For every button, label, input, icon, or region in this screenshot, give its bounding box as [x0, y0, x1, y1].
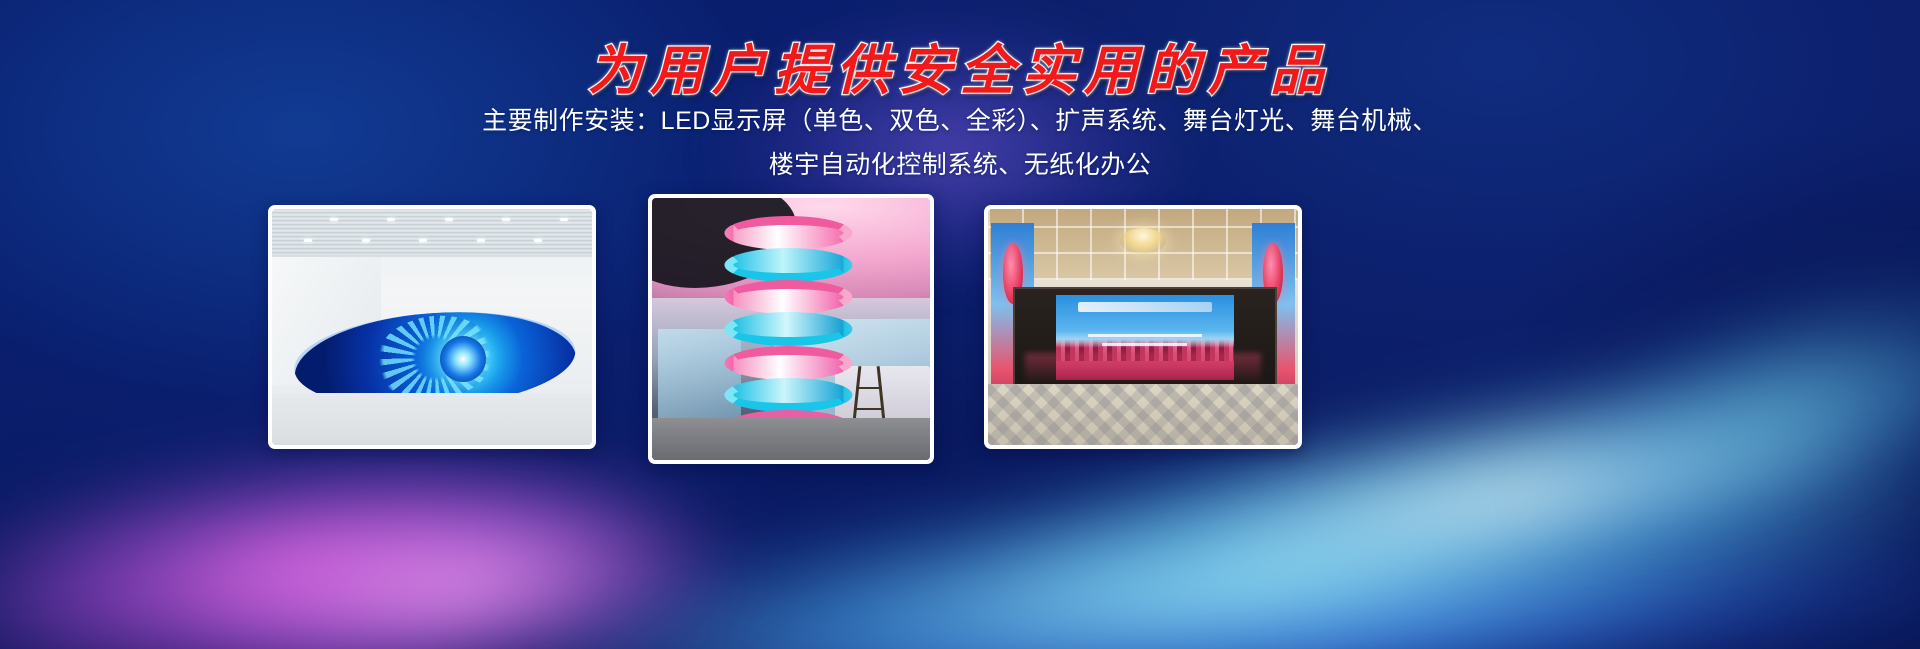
- photo-spiral-helix-led-column: [652, 198, 930, 460]
- headline-area: 为用户提供安全实用的产品: [0, 26, 1920, 105]
- photo-auditorium-led-screen: [988, 209, 1298, 445]
- helix-led-strip: [724, 206, 852, 452]
- gallery-item-spiral-helix-led-column[interactable]: [648, 194, 934, 464]
- chandelier: [1120, 228, 1166, 254]
- photo-eye-shaped-led-display: [272, 209, 592, 445]
- subtitle-line-2: 楼宇自动化控制系统、无纸化办公: [0, 143, 1920, 187]
- lobby-floor: [272, 393, 592, 445]
- subtitle-line-1: 主要制作安装：LED显示屏（单色、双色、全彩）、扩声系统、舞台灯光、舞台机械、: [0, 99, 1920, 143]
- floor-reflection: [1025, 353, 1261, 384]
- subtitle-block: 主要制作安装：LED显示屏（单色、双色、全彩）、扩声系统、舞台灯光、舞台机械、 …: [0, 99, 1920, 187]
- gallery-item-auditorium-led-screen[interactable]: [984, 205, 1302, 449]
- marble-floor: [988, 384, 1298, 445]
- gallery-item-eye-shaped-led-display[interactable]: [268, 205, 596, 449]
- atrium-floor: [652, 418, 930, 460]
- ceiling-grille: [272, 209, 592, 257]
- promo-banner: 为用户提供安全实用的产品 主要制作安装：LED显示屏（单色、双色、全彩）、扩声系…: [0, 0, 1920, 649]
- page-title: 为用户提供安全实用的产品: [588, 26, 1332, 105]
